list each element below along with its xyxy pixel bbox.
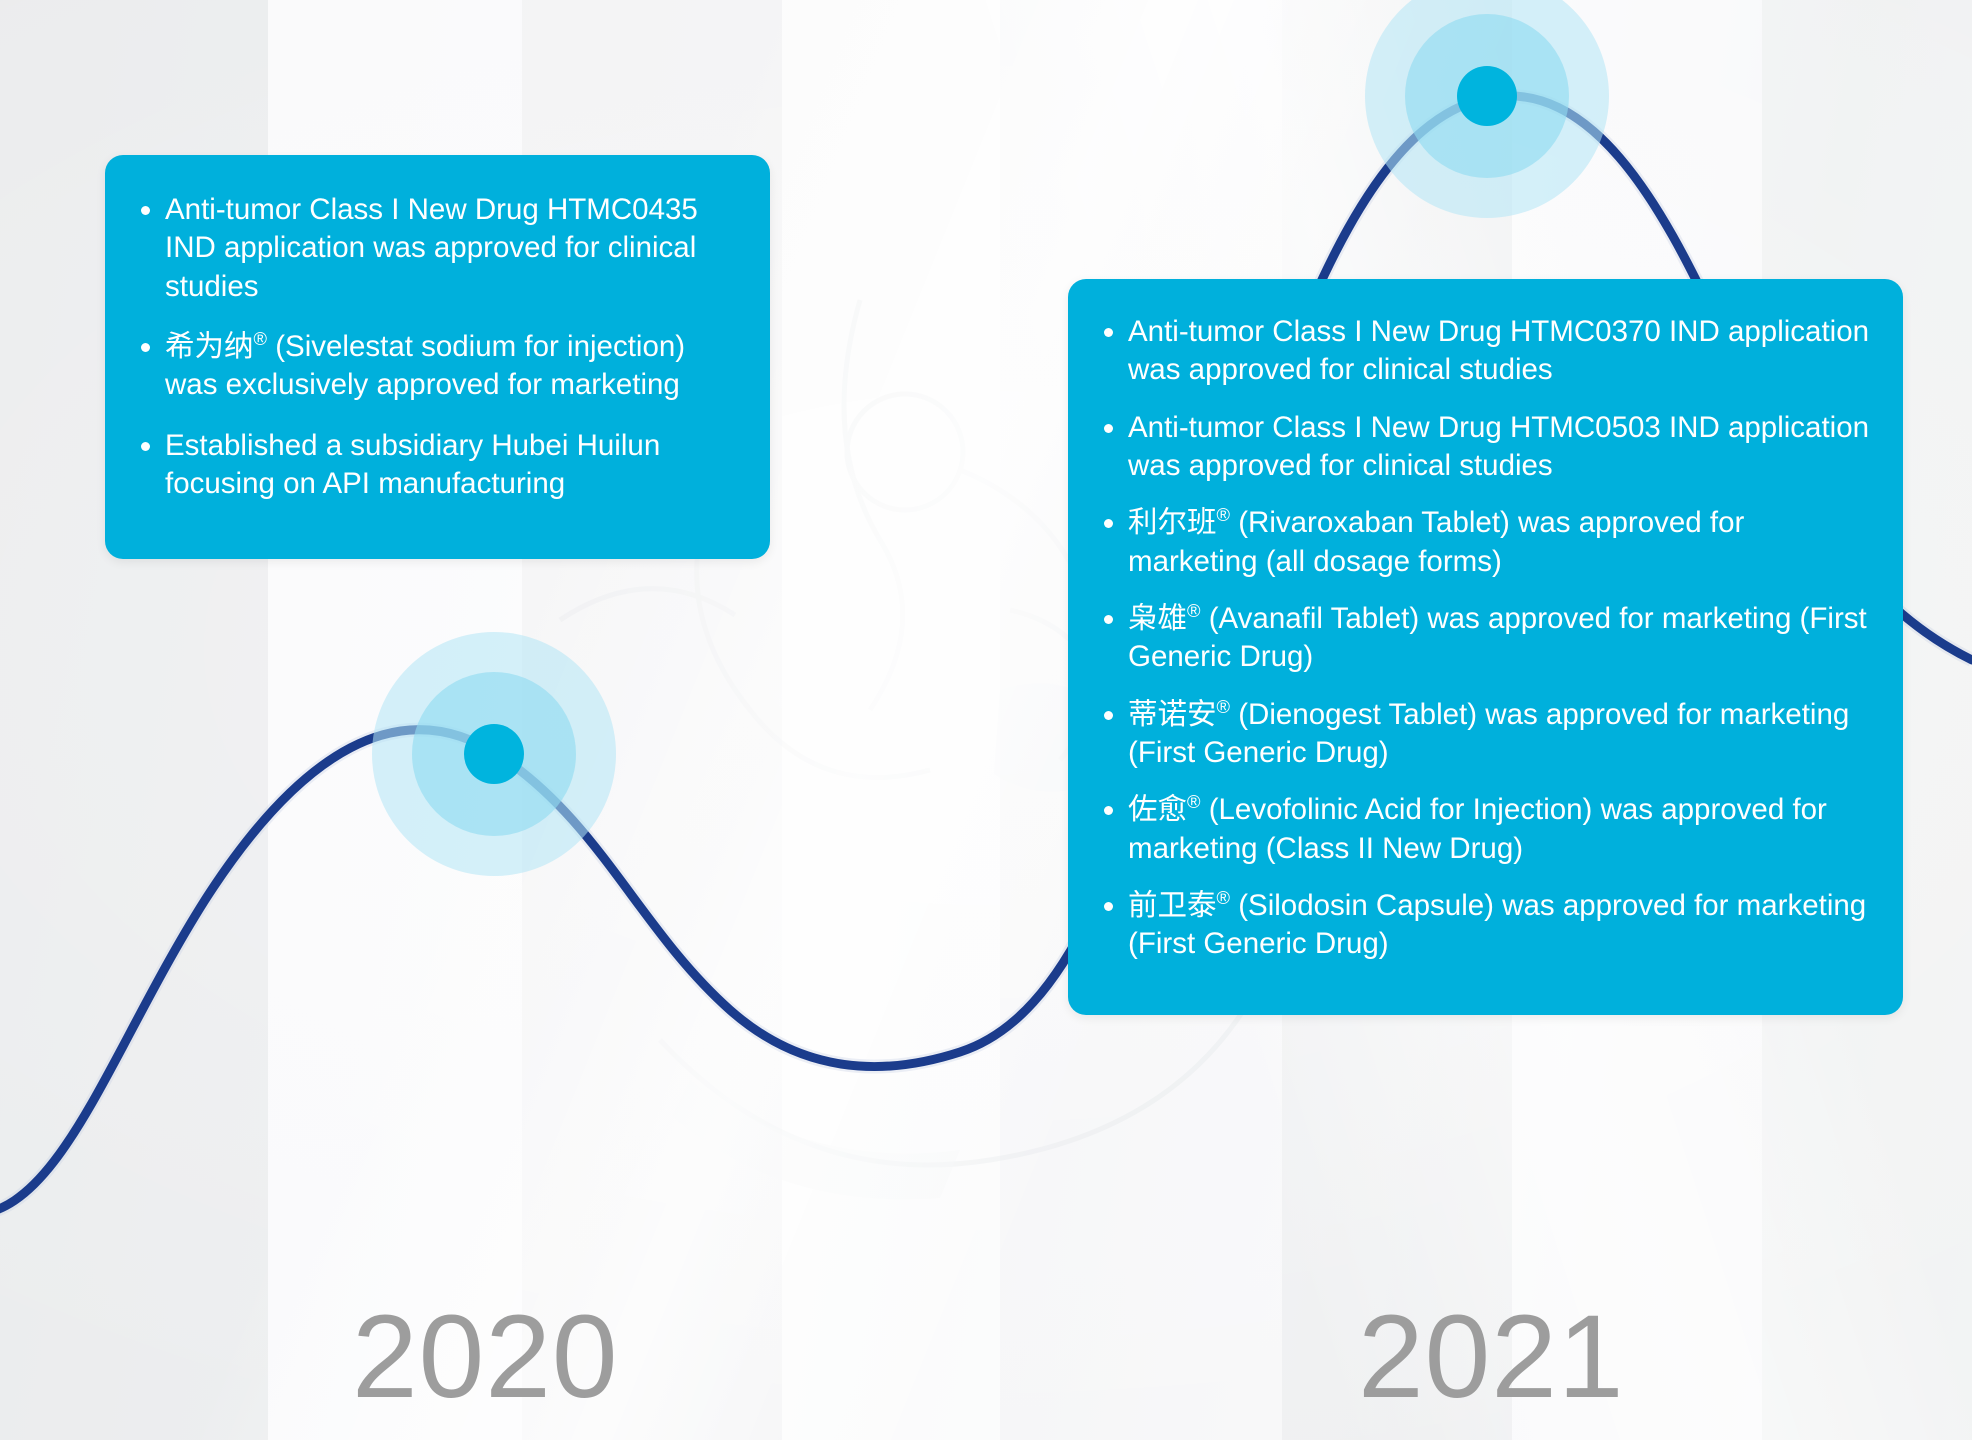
node-core-2020 [464, 724, 524, 784]
milestone-list-2021: Anti-tumor Class I New Drug HTMC0370 IND… [1098, 313, 1873, 964]
registered-mark-icon: ® [1187, 600, 1200, 621]
bullet-cn-name: 蒂诺安 [1128, 698, 1217, 731]
list-item: 希为纳® (Sivelestat sodium for injection) w… [135, 328, 736, 405]
list-item: 佐愈® (Levofolinic Acid for Injection) was… [1098, 791, 1873, 868]
registered-mark-icon: ® [1217, 696, 1230, 717]
list-item: Anti-tumor Class I New Drug HTMC0435 IND… [135, 191, 736, 306]
year-label-2021: 2021 [1358, 1298, 1625, 1416]
bullet-text: Established a subsidiary Hubei Huilun fo… [165, 429, 660, 500]
bullet-text: Anti-tumor Class I New Drug HTMC0370 IND… [1128, 315, 1869, 386]
bullet-cn-name: 前卫泰 [1128, 889, 1217, 922]
bullet-text: (Dienogest Tablet) was approved for mark… [1128, 698, 1849, 769]
node-core-2021 [1457, 66, 1517, 126]
list-item: Anti-tumor Class I New Drug HTMC0370 IND… [1098, 313, 1873, 390]
year-label-2020: 2020 [352, 1298, 619, 1416]
list-item: 利尔班® (Rivaroxaban Tablet) was approved f… [1098, 504, 1873, 581]
list-item: 枭雄® (Avanafil Tablet) was approved for m… [1098, 600, 1873, 677]
registered-mark-icon: ® [1187, 792, 1200, 813]
bullet-cn-name: 枭雄 [1128, 602, 1187, 635]
bullet-cn-name: 利尔班 [1128, 506, 1217, 539]
timeline-infographic: 2020 2021 Anti-tumor Class I New Drug HT… [0, 0, 1972, 1440]
bullet-cn-name: 佐愈 [1128, 793, 1187, 826]
milestone-card-2021: Anti-tumor Class I New Drug HTMC0370 IND… [1068, 279, 1903, 1015]
bullet-cn-name: 希为纳 [165, 330, 254, 363]
bullet-text: Anti-tumor Class I New Drug HTMC0503 IND… [1128, 411, 1869, 482]
list-item: 前卫泰® (Silodosin Capsule) was approved fo… [1098, 887, 1873, 964]
bullet-text: Anti-tumor Class I New Drug HTMC0435 IND… [165, 193, 698, 303]
bullet-text: (Silodosin Capsule) was approved for mar… [1128, 889, 1866, 960]
list-item: Established a subsidiary Hubei Huilun fo… [135, 427, 736, 504]
list-item: 蒂诺安® (Dienogest Tablet) was approved for… [1098, 696, 1873, 773]
registered-mark-icon: ® [1217, 887, 1230, 908]
bullet-text: (Avanafil Tablet) was approved for marke… [1128, 602, 1867, 673]
list-item: Anti-tumor Class I New Drug HTMC0503 IND… [1098, 409, 1873, 486]
registered-mark-icon: ® [254, 328, 267, 349]
bullet-text: (Levofolinic Acid for Injection) was app… [1128, 793, 1827, 864]
timeline-node-2021 [1365, 0, 1609, 218]
registered-mark-icon: ® [1217, 505, 1230, 526]
timeline-node-2020 [372, 632, 616, 876]
milestone-card-2020: Anti-tumor Class I New Drug HTMC0435 IND… [105, 155, 770, 559]
milestone-list-2020: Anti-tumor Class I New Drug HTMC0435 IND… [135, 191, 736, 503]
